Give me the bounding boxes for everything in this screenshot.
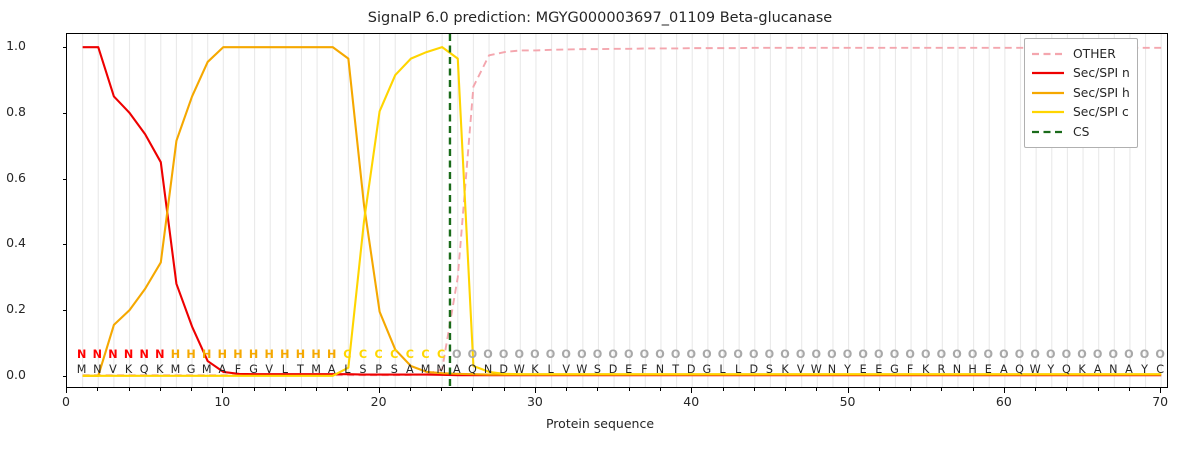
legend-item-cs[interactable]: CS [1031, 122, 1130, 142]
x-axis-label: Protein sequence [0, 416, 1200, 431]
legend-label: Sec/SPI n [1073, 66, 1130, 80]
x-tick-minor [754, 388, 755, 391]
x-tick-minor [316, 388, 317, 391]
y-tick-label: 0.8 [0, 104, 26, 119]
x-tick-mark [379, 388, 380, 393]
x-tick-label: 70 [1137, 394, 1183, 409]
legend-swatch-icon [1031, 67, 1065, 79]
x-tick-minor [97, 388, 98, 391]
x-tick-label: 60 [981, 394, 1027, 409]
y-tick-label: 0.0 [0, 367, 26, 382]
x-tick-minor [129, 388, 130, 391]
x-tick-minor [566, 388, 567, 391]
legend-swatch-icon [1031, 87, 1065, 99]
x-tick-mark [691, 388, 692, 393]
y-tick-label: 0.2 [0, 301, 26, 316]
x-tick-minor [1129, 388, 1130, 391]
chart-title: SignalP 6.0 prediction: MGYG000003697_01… [0, 10, 1200, 26]
x-tick-mark [222, 388, 223, 393]
x-tick-minor [910, 388, 911, 391]
x-tick-mark [1160, 388, 1161, 393]
x-tick-label: 20 [356, 394, 402, 409]
x-tick-minor [191, 388, 192, 391]
legend-swatch-icon [1031, 126, 1065, 138]
x-tick-label: 50 [825, 394, 871, 409]
legend-label: Sec/SPI c [1073, 105, 1129, 119]
x-tick-minor [410, 388, 411, 391]
x-tick-minor [254, 388, 255, 391]
x-tick-minor [160, 388, 161, 391]
legend-label: CS [1073, 125, 1089, 139]
x-tick-minor [785, 388, 786, 391]
legend-item-sec-spi-h[interactable]: Sec/SPI h [1031, 83, 1130, 103]
x-tick-minor [660, 388, 661, 391]
series-line-other [83, 48, 1162, 375]
region-label: O [1149, 348, 1171, 361]
chart-legend: OTHERSec/SPI nSec/SPI hSec/SPI cCS [1024, 38, 1138, 148]
x-tick-minor [879, 388, 880, 391]
x-tick-minor [472, 388, 473, 391]
sequence-residue: C [1149, 363, 1171, 376]
plot-area [66, 33, 1168, 388]
y-tick-mark [63, 47, 68, 48]
legend-item-sec-spi-c[interactable]: Sec/SPI c [1031, 103, 1130, 123]
plot-canvas [67, 34, 1167, 387]
legend-swatch-icon [1031, 48, 1065, 60]
x-tick-minor [723, 388, 724, 391]
y-tick-mark [63, 244, 68, 245]
x-tick-minor [597, 388, 598, 391]
y-tick-label: 0.4 [0, 235, 26, 250]
y-tick-label: 1.0 [0, 38, 26, 53]
x-tick-minor [629, 388, 630, 391]
series-line-sec-spi-c [83, 47, 1162, 376]
y-tick-mark [63, 376, 68, 377]
x-tick-minor [1098, 388, 1099, 391]
x-tick-mark [848, 388, 849, 393]
x-tick-minor [347, 388, 348, 391]
chart-lines [67, 34, 1167, 387]
x-tick-minor [285, 388, 286, 391]
x-tick-mark [66, 388, 67, 393]
y-tick-label: 0.6 [0, 170, 26, 185]
x-tick-minor [941, 388, 942, 391]
x-tick-mark [1004, 388, 1005, 393]
x-tick-minor [504, 388, 505, 391]
x-tick-minor [1066, 388, 1067, 391]
legend-item-sec-spi-n[interactable]: Sec/SPI n [1031, 64, 1130, 84]
signalp-prediction-figure: SignalP 6.0 prediction: MGYG000003697_01… [0, 0, 1200, 450]
y-tick-mark [63, 179, 68, 180]
x-tick-minor [816, 388, 817, 391]
x-tick-label: 30 [512, 394, 558, 409]
y-tick-mark [63, 113, 68, 114]
series-line-sec-spi-h [83, 47, 1162, 376]
x-tick-label: 0 [43, 394, 89, 409]
legend-label: Sec/SPI h [1073, 86, 1130, 100]
series-line-sec-spi-n [83, 47, 1162, 375]
x-tick-minor [973, 388, 974, 391]
x-tick-mark [535, 388, 536, 393]
x-tick-minor [441, 388, 442, 391]
legend-item-other[interactable]: OTHER [1031, 44, 1130, 64]
legend-swatch-icon [1031, 106, 1065, 118]
x-tick-label: 10 [199, 394, 245, 409]
x-tick-label: 40 [668, 394, 714, 409]
y-tick-mark [63, 310, 68, 311]
legend-label: OTHER [1073, 47, 1116, 61]
x-tick-minor [1035, 388, 1036, 391]
